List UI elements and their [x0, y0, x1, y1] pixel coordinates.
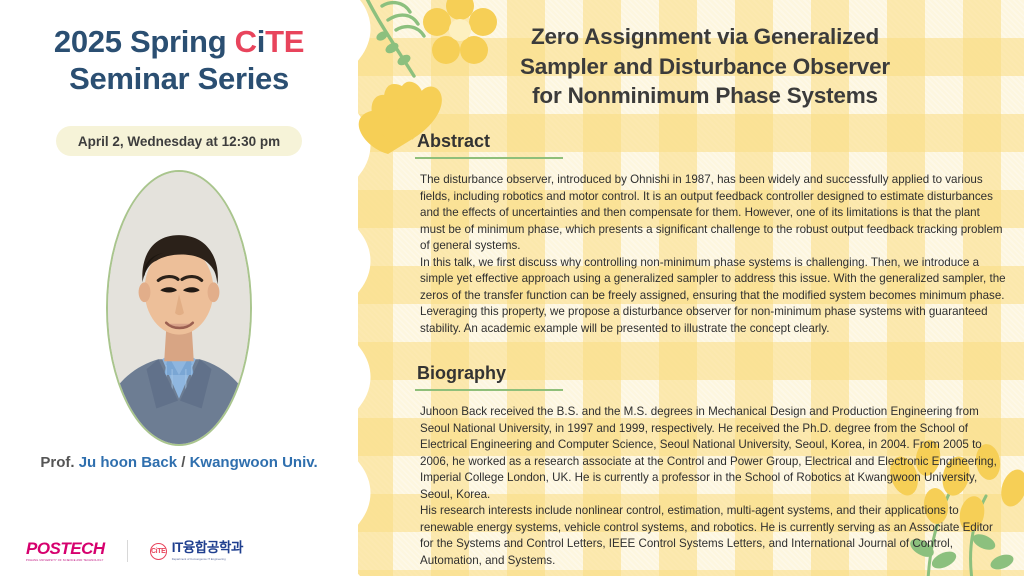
left-info-panel: 2025 Spring CiTE Seminar Series April 2,… — [0, 0, 358, 576]
cite-logo-letter-i: i — [257, 24, 265, 59]
speaker-line: Prof. Ju hoon Back / Kwangwoon Univ. — [0, 454, 358, 471]
series-title-line-2: Seminar Series — [0, 61, 358, 98]
abstract-heading-rule — [415, 157, 563, 159]
speaker-prefix: Prof. — [40, 454, 78, 471]
speaker-affiliation: Kwangwoon Univ. — [190, 454, 318, 471]
talk-title-line-1: Zero Assignment via Generalized — [400, 22, 1010, 52]
cite-circle-badge: CiTE — [150, 543, 167, 560]
date-time-badge: April 2, Wednesday at 12:30 pm — [56, 126, 302, 156]
postech-wordmark: POSTECH — [26, 540, 105, 557]
abstract-paragraph-1: The disturbance observer, introduced by … — [420, 172, 1007, 255]
cite-logo-letter-c: C — [235, 24, 257, 59]
biography-paragraph-1: Juhoon Back received the B.S. and the M.… — [420, 404, 1007, 503]
logo-divider — [127, 540, 128, 562]
speaker-name: Ju hoon Back — [79, 454, 177, 471]
right-content-column: Zero Assignment via Generalized Sampler … — [355, 0, 1024, 576]
abstract-paragraph-2: In this talk, we first discuss why contr… — [420, 255, 1007, 338]
cite-department-logo: CiTE IT융합공학과 Department of Convergence I… — [150, 541, 243, 561]
series-title: 2025 Spring CiTE Seminar Series — [0, 24, 358, 97]
series-title-line-1: 2025 Spring CiTE — [0, 24, 358, 61]
abstract-heading: Abstract — [417, 131, 490, 152]
speaker-photo-ring — [106, 170, 252, 446]
talk-title-line-3: for Nonminimum Phase Systems — [400, 81, 1010, 111]
footer-logos: POSTECH POHANG UNIVERSITY OF SCIENCE AND… — [26, 540, 243, 562]
portrait-illustration — [108, 172, 250, 444]
speaker-photo — [106, 170, 252, 446]
abstract-body: The disturbance observer, introduced by … — [420, 172, 1007, 337]
department-name-english: Department of Convergence IT Engineering — [172, 557, 243, 561]
biography-heading-rule — [415, 389, 563, 391]
speaker-separator: / — [177, 454, 190, 471]
department-name-korean: IT융합공학과 — [172, 541, 243, 555]
biography-body: Juhoon Back received the B.S. and the M.… — [420, 404, 1007, 569]
seminar-poster: Zero Assignment via Generalized Sampler … — [0, 0, 1024, 576]
postech-logo: POSTECH POHANG UNIVERSITY OF SCIENCE AND… — [26, 540, 105, 562]
cite-logo-letters-te: TE — [265, 24, 304, 59]
talk-title: Zero Assignment via Generalized Sampler … — [400, 22, 1010, 111]
series-title-year-season: 2025 Spring — [54, 24, 235, 59]
biography-paragraph-2: His research interests include nonlinear… — [420, 503, 1007, 569]
department-text: IT융합공학과 Department of Convergence IT Eng… — [172, 541, 243, 561]
postech-subtitle: POHANG UNIVERSITY OF SCIENCE AND TECHNOL… — [26, 559, 105, 562]
biography-heading: Biography — [417, 363, 506, 384]
talk-title-line-2: Sampler and Disturbance Observer — [400, 52, 1010, 82]
